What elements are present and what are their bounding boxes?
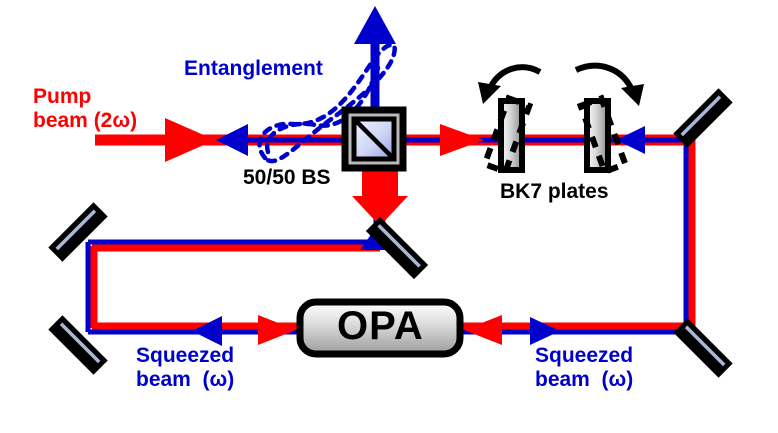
pump-arrowhead-top-right [440,124,484,156]
optics-diagram-canvas: Pump beam (2ω) Entanglement 50/50 BS BK7… [0,0,778,433]
opa-label: OPA [337,304,424,349]
squeezed-beam-right-label: Squeezed beam (ω) [535,344,633,391]
squeezed-arrowhead-bottom-right [530,317,560,345]
beamsplitter-label: 50/50 BS [243,166,331,190]
entanglement-label: Entanglement [184,57,323,81]
pump-arrowhead-right [165,118,215,162]
squeezed-beam-left-label: Squeezed beam (ω) [136,344,234,391]
mirror-top-right[interactable] [673,88,732,147]
squeezed-arrowhead-bottom-left [192,316,222,346]
mirror-mid-left[interactable] [48,202,107,261]
bk7-plates-label: BK7 plates [500,180,609,204]
diagram-svg [0,0,778,433]
pump-arrowhead-bottom-left [258,315,296,345]
pump-arrowhead-bottom-right [464,315,502,345]
squeezed-arrowhead-left-top [216,124,248,156]
squeezed-arrowhead-top-right [616,126,645,154]
pump-beam-label: Pump beam (2ω) [33,85,137,132]
beam-splitter[interactable] [345,110,403,168]
mirror-bottom-right[interactable] [673,318,732,377]
